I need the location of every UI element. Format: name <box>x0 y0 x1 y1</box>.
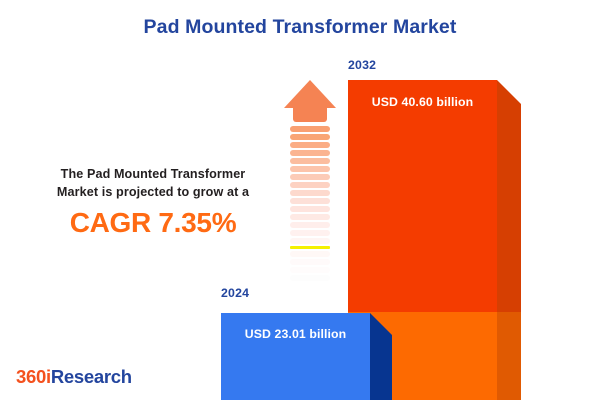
bar-2032-side-face <box>497 80 521 312</box>
arrow-stripe <box>290 126 330 132</box>
arrow-stripe <box>290 251 330 257</box>
arrow-stripe <box>290 275 330 281</box>
callout-line-1: The Pad Mounted Transformer <box>28 165 278 183</box>
growth-arrow <box>284 80 336 295</box>
arrow-stripe <box>290 230 330 236</box>
arrow-stripe <box>290 134 330 140</box>
arrow-stripe <box>290 246 330 249</box>
callout-line-2: Market is projected to grow at a <box>28 183 278 201</box>
arrow-stripe <box>290 222 330 228</box>
bar-2032-front-face <box>348 80 497 312</box>
infographic-canvas: Pad Mounted Transformer Market The Pad M… <box>0 0 600 400</box>
logo-360i: 360i <box>16 366 51 387</box>
arrow-stripe <box>290 190 330 196</box>
arrow-stripe <box>290 182 330 188</box>
cagr-value: CAGR 7.35% <box>28 206 278 239</box>
logo-research: Research <box>51 366 132 387</box>
arrow-stripe <box>290 206 330 212</box>
bar-2032-year-label: 2032 <box>348 58 376 72</box>
arrow-stripe <box>290 174 330 180</box>
arrow-stripe <box>290 166 330 172</box>
bar-2032-value-label: USD 40.60 billion <box>348 95 497 109</box>
arrow-stripe <box>290 158 330 164</box>
arrow-stripe <box>290 259 330 265</box>
arrow-stripe <box>290 150 330 156</box>
arrow-stripe <box>290 214 330 220</box>
bar-2024-year-label: 2024 <box>221 286 249 300</box>
brand-logo[interactable]: 360iResearch <box>16 366 132 388</box>
arrow-stripe <box>290 267 330 273</box>
arrow-stripe-stack <box>290 126 330 283</box>
bar-2032-side-face-lower <box>497 312 521 400</box>
arrow-neck <box>293 108 327 122</box>
arrow-stripe <box>290 238 330 244</box>
arrow-stripe <box>290 198 330 204</box>
arrow-stripe <box>290 142 330 148</box>
page-title: Pad Mounted Transformer Market <box>0 16 600 39</box>
up-arrow-icon <box>284 80 336 108</box>
bar-2024-value-label: USD 23.01 billion <box>221 327 370 341</box>
cagr-callout: The Pad Mounted Transformer Market is pr… <box>28 165 278 239</box>
